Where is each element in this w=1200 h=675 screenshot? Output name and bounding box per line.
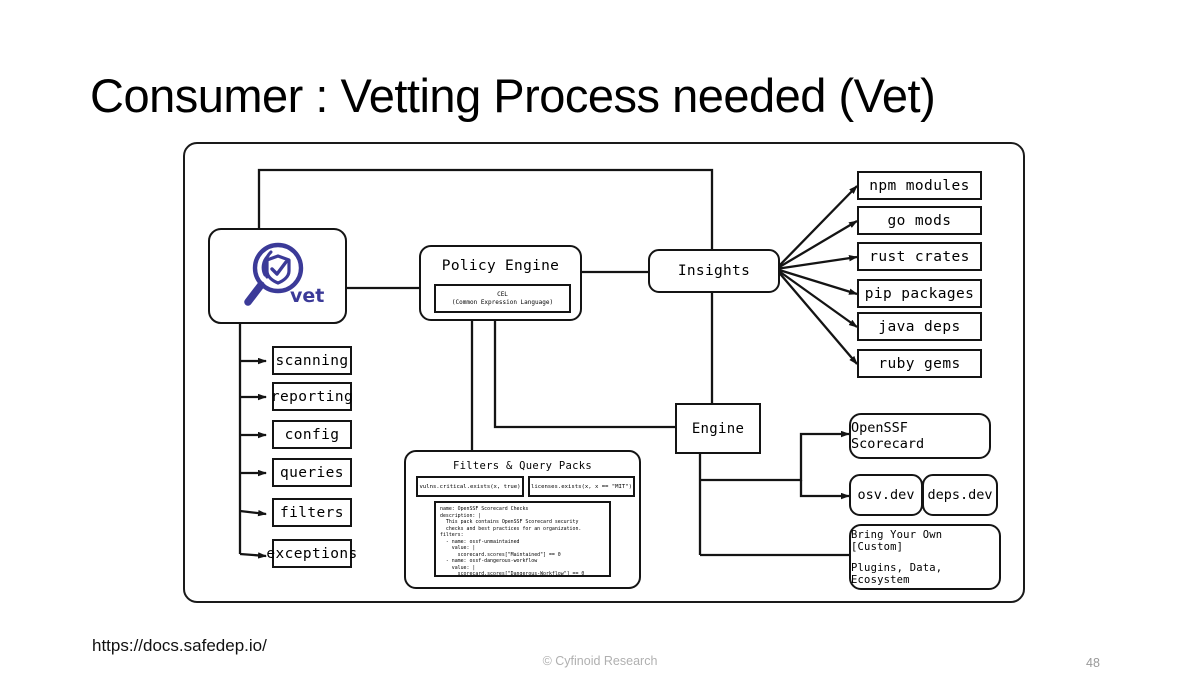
filters-panel-title: Filters & Query Packs	[406, 460, 639, 472]
left-item-filters: filters	[272, 498, 352, 527]
policy-engine-node: Policy Engine CEL (Common Expression Lan…	[419, 245, 582, 321]
query-pack-yaml: name: OpenSSF Scorecard Checks descripti…	[434, 501, 611, 577]
ecosystem-rust-crates: rust crates	[857, 242, 982, 271]
left-item-exceptions: exceptions	[272, 539, 352, 568]
vet-logo-card: vet	[208, 228, 347, 324]
docs-url[interactable]: https://docs.safedep.io/	[92, 636, 267, 656]
output-deps-dev: deps.dev	[922, 474, 998, 516]
filter-chip-vulns: vulns.critical.exists(x, true)	[416, 476, 524, 497]
byo-line-1: Bring Your Own [Custom]	[851, 529, 999, 553]
page-number: 48	[1086, 656, 1100, 670]
filter-chip-licenses: licenses.exists(x, x == "MIT")	[528, 476, 635, 497]
copyright-notice: © Cyfinoid Research	[0, 654, 1200, 668]
left-item-reporting: reporting	[272, 382, 352, 411]
ecosystem-pip-packages: pip packages	[857, 279, 982, 308]
ecosystem-npm-modules: npm modules	[857, 171, 982, 200]
magnifier-shield-check-icon: vet	[210, 230, 345, 322]
left-item-config: config	[272, 420, 352, 449]
byo-line-2: Plugins, Data, Ecosystem	[851, 562, 999, 586]
cel-expansion: (Common Expression Language)	[452, 299, 553, 307]
filters-query-packs-panel: Filters & Query Packs vulns.critical.exi…	[404, 450, 641, 589]
ecosystem-go-mods: go mods	[857, 206, 982, 235]
slide: Consumer : Vetting Process needed (Vet)	[0, 0, 1200, 675]
left-item-queries: queries	[272, 458, 352, 487]
ecosystem-java-deps: java deps	[857, 312, 982, 341]
policy-engine-title: Policy Engine	[421, 258, 580, 274]
engine-node: Engine	[675, 403, 761, 454]
output-bring-your-own: Bring Your Own [Custom] Plugins, Data, E…	[849, 524, 1001, 590]
svg-text:vet: vet	[290, 285, 324, 307]
page-title: Consumer : Vetting Process needed (Vet)	[90, 68, 935, 123]
ecosystem-ruby-gems: ruby gems	[857, 349, 982, 378]
output-osv-dev: osv.dev	[849, 474, 923, 516]
output-openssf-scorecard: OpenSSF Scorecard	[849, 413, 991, 459]
insights-node: Insights	[648, 249, 780, 293]
cel-abbrev: CEL	[497, 291, 508, 299]
left-item-scanning: scanning	[272, 346, 352, 375]
cel-box: CEL (Common Expression Language)	[434, 284, 571, 313]
